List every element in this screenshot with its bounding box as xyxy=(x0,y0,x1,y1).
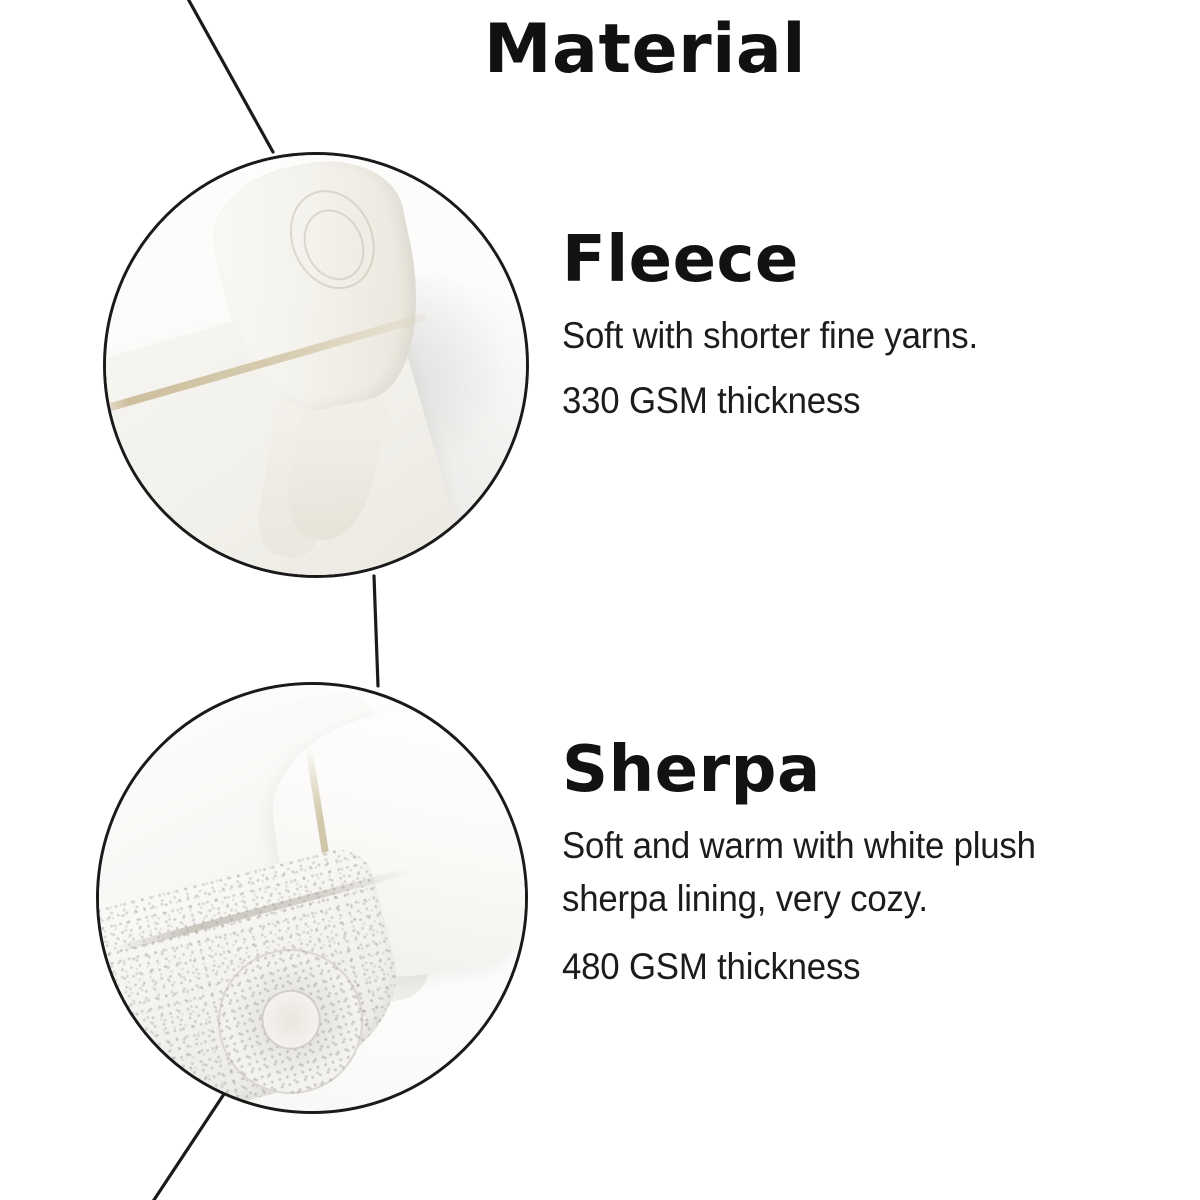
sherpa-description-line-1: Soft and warm with white plush xyxy=(562,820,1036,873)
fleece-description-line-1: Soft with shorter fine yarns. xyxy=(562,310,978,363)
sherpa-rolled-end-inner xyxy=(254,982,329,1057)
fleece-photo-image xyxy=(106,155,526,575)
sherpa-description-line-2: sherpa lining, very cozy. xyxy=(562,873,1036,926)
material-infographic: Material xyxy=(0,0,1200,1200)
page-title: Material xyxy=(0,14,1200,85)
fleece-thickness: 330 GSM thickness xyxy=(562,375,978,428)
sherpa-photo-image xyxy=(99,685,525,1111)
sherpa-thickness: 480 GSM thickness xyxy=(562,941,1036,994)
connector-line-middle xyxy=(374,576,378,686)
sherpa-text-block: Sherpa Soft and warm with white plush sh… xyxy=(562,738,1066,994)
fleece-heading: Fleece xyxy=(562,228,1005,292)
fleece-photo-circle xyxy=(103,152,529,578)
sherpa-heading: Sherpa xyxy=(562,738,1066,802)
fleece-text-block: Fleece Soft with shorter fine yarns. 330… xyxy=(562,228,1005,427)
sherpa-photo-circle xyxy=(96,682,528,1114)
